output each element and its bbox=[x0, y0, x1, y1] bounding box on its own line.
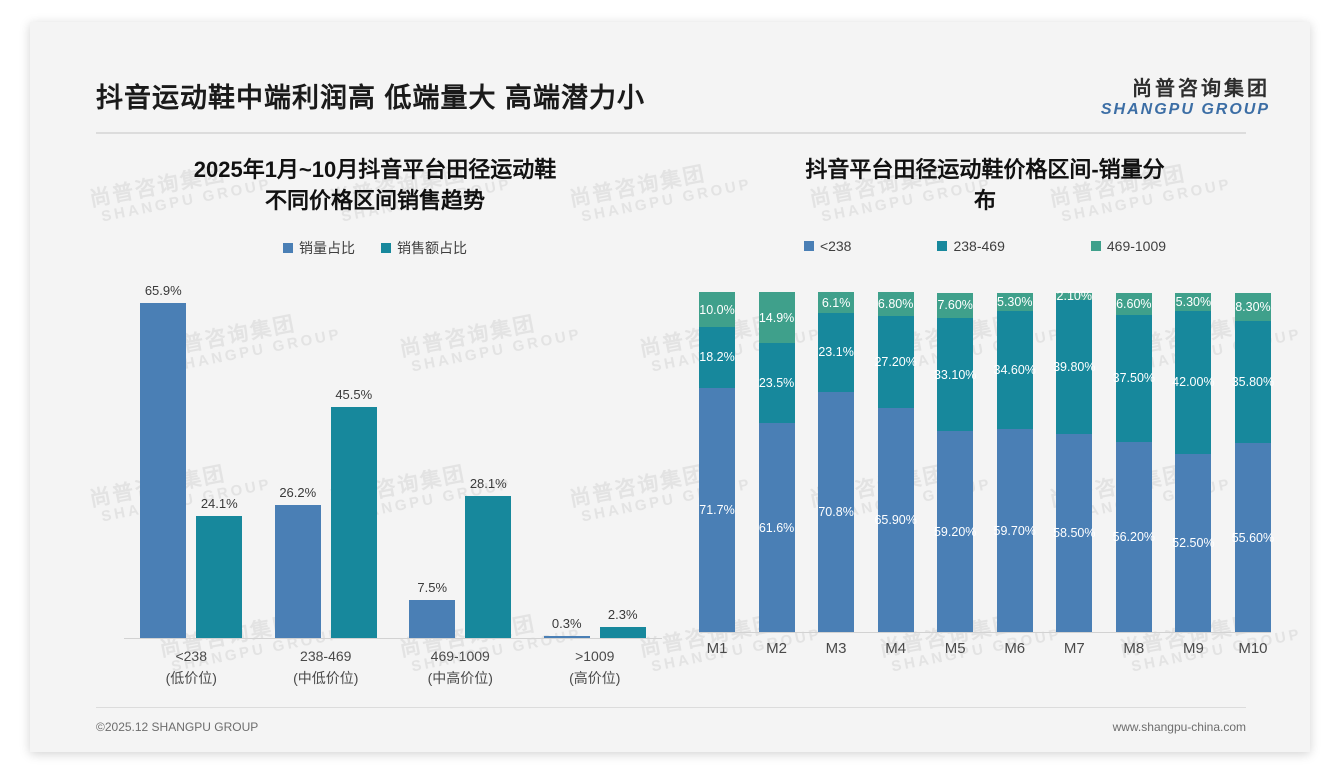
x-axis-label-main: 469-1009 bbox=[431, 648, 490, 664]
bar-fill bbox=[409, 600, 455, 638]
legend-label: <238 bbox=[820, 238, 852, 254]
bar-fill bbox=[275, 505, 321, 638]
stack-segment: 35.80% bbox=[1235, 321, 1271, 443]
bar-value-label: 7.5% bbox=[417, 580, 447, 595]
x-axis-label: M9 bbox=[1175, 640, 1211, 657]
stack-segment: 2.10% bbox=[1056, 293, 1092, 300]
stack-segment: 59.20% bbox=[937, 431, 973, 632]
right-chart-x-axis bbox=[699, 632, 1271, 633]
segment-value-label: 52.50% bbox=[1172, 536, 1214, 550]
bar-value-label: 65.9% bbox=[145, 283, 182, 298]
segment-value-label: 35.80% bbox=[1232, 375, 1274, 389]
legend-swatch-icon bbox=[804, 241, 814, 251]
x-axis-label: M5 bbox=[937, 640, 973, 657]
x-axis-label: 238-469(中低价位) bbox=[266, 646, 386, 689]
right-chart-title-line2: 布 bbox=[713, 185, 1257, 216]
bar[interactable]: 24.1% bbox=[196, 282, 242, 638]
segment-value-label: 55.60% bbox=[1232, 531, 1274, 545]
segment-value-label: 70.8% bbox=[818, 505, 853, 519]
bar-fill bbox=[196, 516, 242, 639]
bar-fill bbox=[465, 496, 511, 639]
slide-footer: ©2025.12 SHANGPU GROUP www.shangpu-china… bbox=[96, 720, 1246, 734]
stack-segment: 71.7% bbox=[699, 388, 735, 632]
bar[interactable]: 65.9% bbox=[140, 282, 186, 638]
right-chart-bars: 10.0%18.2%71.7%14.9%23.5%61.6%6.1%23.1%7… bbox=[699, 292, 1271, 632]
segment-value-label: 5.30% bbox=[997, 295, 1032, 309]
x-axis-label: M4 bbox=[878, 640, 914, 657]
stack-segment: 14.9% bbox=[759, 292, 795, 343]
x-axis-label: 469-1009(中高价位) bbox=[400, 646, 520, 689]
stack-segment: 5.30% bbox=[1175, 293, 1211, 311]
right-chart-x-labels: M1M2M3M4M5M6M7M8M9M10 bbox=[699, 640, 1271, 657]
segment-value-label: 8.30% bbox=[1235, 300, 1270, 314]
bar[interactable]: 26.2% bbox=[275, 282, 321, 638]
segment-value-label: 27.20% bbox=[874, 355, 916, 369]
bar[interactable]: 2.3% bbox=[600, 282, 646, 638]
slide-header: 抖音运动鞋中端利润高 低端量大 高端潜力小 尚普咨询集团 SHANGPU GRO… bbox=[30, 22, 1310, 114]
segment-value-label: 59.20% bbox=[934, 525, 976, 539]
bar[interactable]: 7.5% bbox=[409, 282, 455, 638]
stacked-bar[interactable]: 7.60%33.10%59.20% bbox=[937, 292, 973, 632]
footer-website: www.shangpu-china.com bbox=[1113, 720, 1246, 734]
legend-item[interactable]: 销量占比 bbox=[283, 238, 355, 258]
x-axis-label-sub: (中低价位) bbox=[266, 668, 386, 690]
right-chart-legend: <238238-469469-1009 bbox=[685, 238, 1285, 254]
stacked-bar[interactable]: 6.1%23.1%70.8% bbox=[818, 292, 854, 632]
segment-value-label: 6.1% bbox=[822, 296, 851, 310]
segment-value-label: 37.50% bbox=[1113, 371, 1155, 385]
legend-label: 销量占比 bbox=[299, 238, 355, 258]
stacked-bar[interactable]: 6.60%37.50%56.20% bbox=[1116, 292, 1152, 632]
stacked-bar[interactable]: 14.9%23.5%61.6% bbox=[759, 292, 795, 632]
segment-value-label: 5.30% bbox=[1176, 295, 1211, 309]
stack-segment: 18.2% bbox=[699, 327, 735, 389]
company-logo: 尚普咨询集团 SHANGPU GROUP bbox=[1101, 78, 1270, 119]
segment-value-label: 10.0% bbox=[699, 303, 734, 317]
legend-label: 238-469 bbox=[953, 238, 1004, 254]
segment-value-label: 56.20% bbox=[1113, 530, 1155, 544]
segment-value-label: 59.70% bbox=[994, 524, 1036, 538]
stacked-bar[interactable]: 2.10%39.80%58.50% bbox=[1056, 292, 1092, 632]
right-chart-title: 抖音平台田径运动鞋价格区间-销量分 布 bbox=[685, 154, 1285, 216]
bar-value-label: 0.3% bbox=[552, 616, 582, 631]
bar-value-label: 26.2% bbox=[279, 485, 316, 500]
stack-segment: 33.10% bbox=[937, 318, 973, 431]
footer-copyright: ©2025.12 SHANGPU GROUP bbox=[96, 720, 258, 734]
bar-group: 0.3%2.3% bbox=[544, 282, 646, 638]
segment-value-label: 39.80% bbox=[1053, 360, 1095, 374]
left-chart-title-line1: 2025年1月~10月抖音平台田径运动鞋 bbox=[194, 157, 557, 182]
stack-segment: 6.80% bbox=[878, 292, 914, 315]
segment-value-label: 7.60% bbox=[937, 298, 972, 312]
legend-item[interactable]: 469-1009 bbox=[1091, 238, 1166, 254]
logo-chinese: 尚普咨询集团 bbox=[1101, 78, 1270, 101]
bar-fill bbox=[331, 407, 377, 638]
x-axis-label: M10 bbox=[1235, 640, 1271, 657]
stacked-bar[interactable]: 10.0%18.2%71.7% bbox=[699, 292, 735, 632]
stack-segment: 70.8% bbox=[818, 392, 854, 633]
page-title: 抖音运动鞋中端利润高 低端量大 高端潜力小 bbox=[96, 76, 645, 115]
stack-segment: 42.00% bbox=[1175, 311, 1211, 454]
x-axis-label-sub: (低价位) bbox=[131, 668, 251, 690]
segment-value-label: 23.1% bbox=[818, 345, 853, 359]
bar-value-label: 2.3% bbox=[608, 607, 638, 622]
legend-swatch-icon bbox=[283, 243, 293, 253]
legend-swatch-icon bbox=[937, 241, 947, 251]
x-axis-label: M3 bbox=[818, 640, 854, 657]
segment-value-label: 58.50% bbox=[1053, 526, 1095, 540]
segment-value-label: 65.90% bbox=[874, 513, 916, 527]
bar-fill bbox=[600, 627, 646, 639]
segment-value-label: 61.6% bbox=[759, 521, 794, 535]
bar[interactable]: 45.5% bbox=[331, 282, 377, 638]
stack-segment: 55.60% bbox=[1235, 443, 1271, 633]
segment-value-label: 34.60% bbox=[994, 363, 1036, 377]
left-chart-legend: 销量占比销售额占比 bbox=[70, 238, 680, 258]
stack-segment: 5.30% bbox=[997, 293, 1033, 311]
legend-item[interactable]: <238 bbox=[804, 238, 852, 254]
legend-label: 469-1009 bbox=[1107, 238, 1166, 254]
stack-segment: 52.50% bbox=[1175, 454, 1211, 633]
stacked-bar[interactable]: 8.30%35.80%55.60% bbox=[1235, 292, 1271, 632]
segment-value-label: 6.80% bbox=[878, 297, 913, 311]
right-chart-plot-area: 10.0%18.2%71.7%14.9%23.5%61.6%6.1%23.1%7… bbox=[685, 274, 1285, 694]
segment-value-label: 14.9% bbox=[759, 311, 794, 325]
segment-value-label: 71.7% bbox=[699, 503, 734, 517]
legend-swatch-icon bbox=[1091, 241, 1101, 251]
left-chart-x-axis bbox=[124, 638, 662, 639]
left-chart-bars: 65.9%24.1%26.2%45.5%7.5%28.1%0.3%2.3% bbox=[124, 282, 662, 638]
stack-segment: 37.50% bbox=[1116, 315, 1152, 442]
segment-value-label: 33.10% bbox=[934, 368, 976, 382]
x-axis-label-main: <238 bbox=[175, 648, 207, 664]
x-axis-label: M7 bbox=[1056, 640, 1092, 657]
stack-segment: 6.60% bbox=[1116, 293, 1152, 315]
legend-label: 销售额占比 bbox=[397, 238, 467, 258]
bar-group: 7.5%28.1% bbox=[409, 282, 511, 638]
stack-segment: 61.6% bbox=[759, 423, 795, 632]
left-chart-title: 2025年1月~10月抖音平台田径运动鞋 不同价格区间销售趋势 bbox=[70, 154, 680, 216]
stack-segment: 27.20% bbox=[878, 316, 914, 409]
stack-segment: 39.80% bbox=[1056, 300, 1092, 435]
legend-item[interactable]: 销售额占比 bbox=[381, 238, 467, 258]
left-chart-x-labels: <238(低价位)238-469(中低价位)469-1009(中高价位)>100… bbox=[124, 646, 662, 689]
footer-divider bbox=[96, 707, 1246, 708]
header-divider bbox=[96, 132, 1246, 134]
stacked-bar[interactable]: 6.80%27.20%65.90% bbox=[878, 292, 914, 632]
slide: 尚普咨询集团SHANGPU GROUP尚普咨询集团SHANGPU GROUP尚普… bbox=[30, 22, 1310, 752]
left-chart-plot-area: 65.9%24.1%26.2%45.5%7.5%28.1%0.3%2.3% <2… bbox=[70, 274, 680, 694]
bar[interactable]: 28.1% bbox=[465, 282, 511, 638]
bar[interactable]: 0.3% bbox=[544, 282, 590, 638]
stack-segment: 34.60% bbox=[997, 311, 1033, 429]
bar-value-label: 24.1% bbox=[201, 496, 238, 511]
stack-segment: 6.1% bbox=[818, 292, 854, 313]
logo-english: SHANGPU GROUP bbox=[1101, 101, 1270, 119]
x-axis-label-main: >1009 bbox=[575, 648, 614, 664]
stack-segment: 65.90% bbox=[878, 408, 914, 632]
bar-fill bbox=[140, 303, 186, 638]
x-axis-label-sub: (中高价位) bbox=[400, 668, 520, 690]
segment-value-label: 23.5% bbox=[759, 376, 794, 390]
stack-segment: 58.50% bbox=[1056, 434, 1092, 632]
bar-group: 26.2%45.5% bbox=[275, 282, 377, 638]
x-axis-label: <238(低价位) bbox=[131, 646, 251, 689]
bar-value-label: 28.1% bbox=[470, 476, 507, 491]
x-axis-label: M6 bbox=[997, 640, 1033, 657]
left-chart-panel: 2025年1月~10月抖音平台田径运动鞋 不同价格区间销售趋势 销量占比销售额占… bbox=[70, 140, 680, 700]
x-axis-label: >1009(高价位) bbox=[535, 646, 655, 689]
stack-segment: 23.1% bbox=[818, 313, 854, 392]
stack-segment: 59.70% bbox=[997, 429, 1033, 633]
legend-item[interactable]: 238-469 bbox=[937, 238, 1004, 254]
x-axis-label-main: 238-469 bbox=[300, 648, 351, 664]
stacked-bar[interactable]: 5.30%34.60%59.70% bbox=[997, 292, 1033, 632]
stack-segment: 10.0% bbox=[699, 292, 735, 326]
x-axis-label-sub: (高价位) bbox=[535, 668, 655, 690]
legend-swatch-icon bbox=[381, 243, 391, 253]
segment-value-label: 42.00% bbox=[1172, 375, 1214, 389]
stack-segment: 7.60% bbox=[937, 293, 973, 319]
stacked-bar[interactable]: 5.30%42.00%52.50% bbox=[1175, 292, 1211, 632]
stack-segment: 56.20% bbox=[1116, 442, 1152, 633]
x-axis-label: M2 bbox=[759, 640, 795, 657]
bar-group: 65.9%24.1% bbox=[140, 282, 242, 638]
right-chart-title-line1: 抖音平台田径运动鞋价格区间-销量分 bbox=[805, 157, 1164, 182]
bar-value-label: 45.5% bbox=[335, 387, 372, 402]
x-axis-label: M1 bbox=[699, 640, 735, 657]
segment-value-label: 18.2% bbox=[699, 350, 734, 364]
x-axis-label: M8 bbox=[1116, 640, 1152, 657]
right-chart-panel: 抖音平台田径运动鞋价格区间-销量分 布 <238238-469469-1009 … bbox=[685, 140, 1285, 700]
left-chart-title-line2: 不同价格区间销售趋势 bbox=[98, 185, 652, 216]
stack-segment: 8.30% bbox=[1235, 293, 1271, 321]
stack-segment: 23.5% bbox=[759, 343, 795, 423]
segment-value-label: 6.60% bbox=[1116, 297, 1151, 311]
